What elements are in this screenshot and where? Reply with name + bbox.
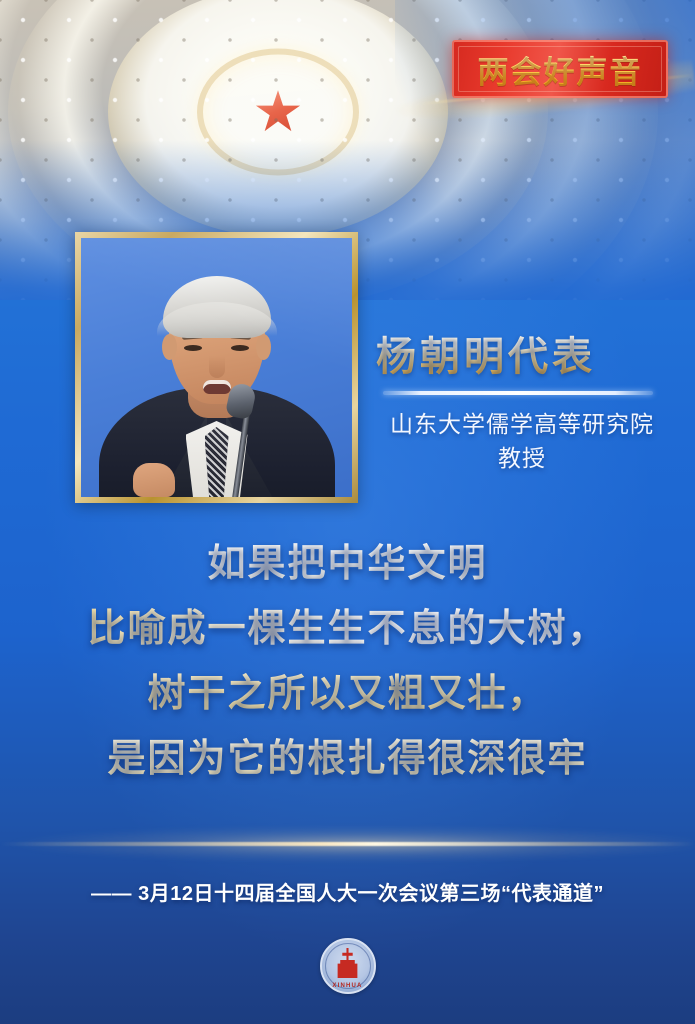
portrait-eye-left xyxy=(184,345,202,351)
series-badge: 两会好声音 xyxy=(452,40,668,98)
quote-line-4: 是因为它的根扎得很深很牢 xyxy=(0,727,695,792)
speaker-affiliation-line-2: 教授 xyxy=(376,441,668,475)
xinhua-logo-icon: XINHUA xyxy=(320,938,376,994)
portrait-hand xyxy=(133,463,175,497)
speaker-name: 杨朝明代表 xyxy=(376,324,666,382)
quote-block: 如果把中华文明 比喻成一棵生生不息的大树， 树干之所以又粗又壮， 是因为它的根扎… xyxy=(0,532,695,792)
portrait-nose xyxy=(209,356,225,378)
source-caption: —— 3月12日十四届全国人大一次会议第三场“代表通道” xyxy=(0,877,695,906)
divider-glow-line xyxy=(0,842,695,846)
portrait-ear-left xyxy=(162,334,177,360)
name-divider xyxy=(383,391,653,395)
speaker-photo xyxy=(81,238,352,497)
speaker-affiliation-line-1: 山东大学儒学高等研究院 xyxy=(376,407,668,441)
portrait-ear-right xyxy=(256,334,271,360)
poster-root: 两会好声音 杨朝明代表 山东大学儒学高等研 xyxy=(0,0,695,1024)
speaker-photo-frame xyxy=(75,232,358,503)
quote-line-1: 如果把中华文明 xyxy=(0,532,695,597)
portrait-eye-right xyxy=(231,345,249,351)
portrait-mouth xyxy=(203,380,231,394)
series-badge-label: 两会好声音 xyxy=(478,47,643,92)
quote-line-2: 比喻成一棵生生不息的大树， xyxy=(0,597,695,662)
speaker-affiliation: 山东大学儒学高等研究院 教授 xyxy=(376,407,668,475)
logo-wordmark: XINHUA xyxy=(320,983,376,989)
quote-line-3: 树干之所以又粗又壮， xyxy=(0,662,695,727)
portrait-hair xyxy=(163,276,271,338)
